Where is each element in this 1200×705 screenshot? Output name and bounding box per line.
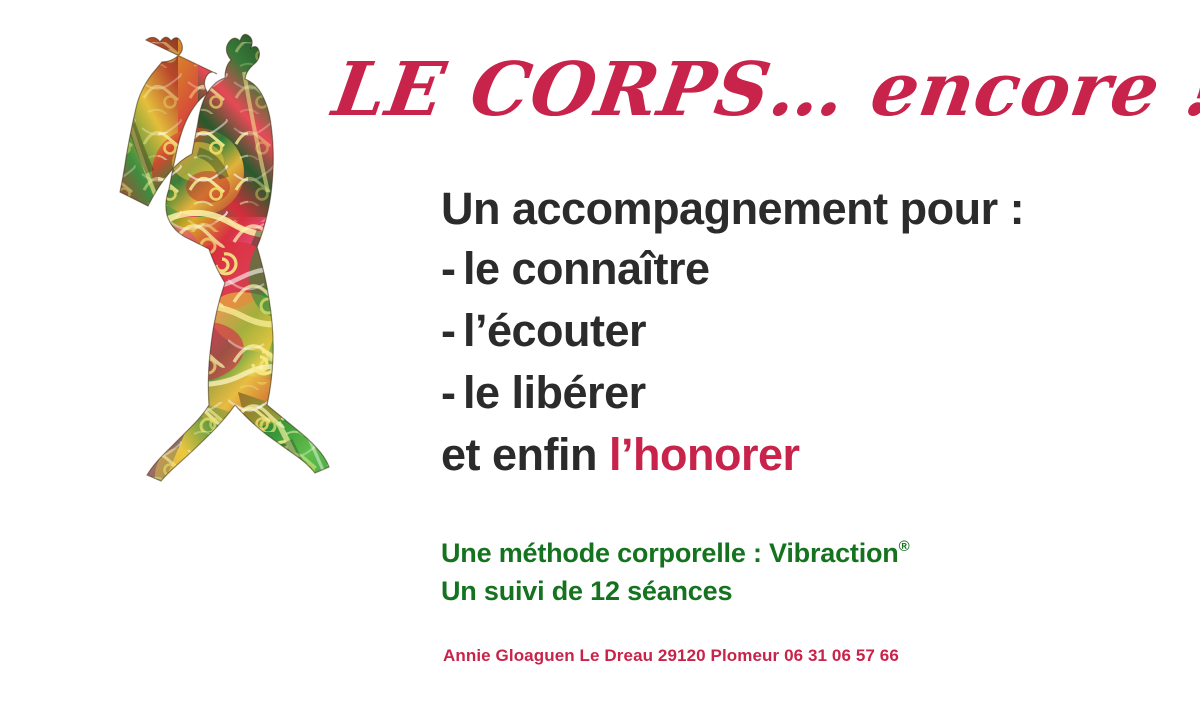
poster-title-text: LE CORPS… encore ! — [326, 38, 1192, 142]
bullet-item-ecouter: l’écouter — [441, 300, 1171, 362]
contact-line: Annie Gloaguen Le Dreau 29120 Plomeur 06… — [443, 645, 1143, 667]
closing-prefix: et enfin — [441, 429, 609, 480]
closing-line: et enfin l’honorer — [441, 424, 1171, 486]
poster-title: LE CORPS… encore ! — [326, 38, 1176, 142]
method-block: Une méthode corporelle : Vibraction® Un … — [441, 528, 1141, 610]
poster-canvas: LE CORPS… encore ! Un accompagnement pou… — [0, 0, 1200, 705]
bullet-item-connaitre: le connaître — [441, 238, 1171, 300]
closing-accent: l’honorer — [609, 429, 800, 480]
bullet-label: l’écouter — [463, 305, 646, 356]
footer-contact-block: Annie Gloaguen Le Dreau 29120 Plomeur 06… — [443, 645, 1143, 667]
bullet-item-liberer: le libérer — [441, 362, 1171, 424]
main-copy-block: Un accompagnement pour : le connaître l’… — [441, 180, 1171, 486]
bullet-label: le libérer — [463, 367, 646, 418]
registered-trademark-icon: ® — [899, 538, 910, 555]
bullet-dash-icon — [441, 362, 463, 424]
bullet-dash-icon — [441, 300, 463, 362]
copy-headline: Un accompagnement pour : — [441, 180, 1171, 238]
method-line-sessions: Un suivi de 12 séances — [441, 572, 1141, 610]
method-line-vibraction: Une méthode corporelle : Vibraction® — [441, 528, 1141, 572]
bullet-dash-icon — [441, 238, 463, 300]
bullet-label: le connaître — [463, 243, 710, 294]
method-text: Une méthode corporelle : Vibraction — [441, 538, 899, 568]
